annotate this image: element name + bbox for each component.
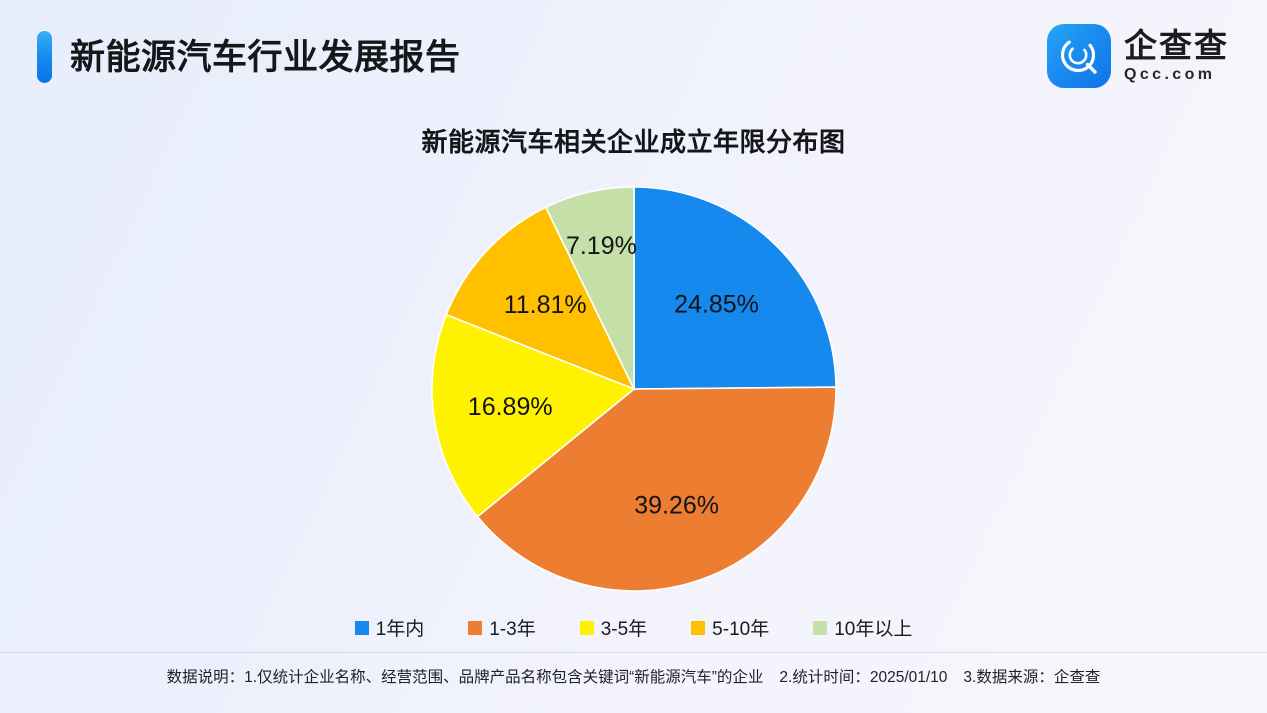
brand-name: 企查查: [1124, 29, 1229, 62]
pie-chart: 24.85%39.26%16.89%11.81%7.19%: [429, 184, 839, 594]
legend-label: 1-3年: [489, 614, 535, 641]
pie-slice[interactable]: [634, 187, 836, 389]
legend-swatch-icon: [355, 621, 369, 635]
chart-legend: 1年内1-3年3-5年5-10年10年以上: [0, 614, 1267, 641]
pie-slice-label: 16.89%: [468, 393, 553, 421]
pie-slice-label: 24.85%: [674, 290, 759, 318]
legend-swatch-icon: [813, 621, 827, 635]
chart-title: 新能源汽车相关企业成立年限分布图: [0, 122, 1267, 159]
brand-domain: Qcc.com: [1124, 67, 1229, 83]
pie-chart-svg: 24.85%39.26%16.89%11.81%7.19%: [429, 184, 839, 594]
page-header: 新能源汽车行业发展报告 企查查 Qcc.com: [0, 0, 1267, 112]
legend-item[interactable]: 1-3年: [468, 614, 535, 641]
legend-swatch-icon: [691, 621, 705, 635]
legend-item[interactable]: 10年以上: [813, 614, 912, 641]
legend-item[interactable]: 5-10年: [691, 614, 769, 641]
vertical-bar-icon: [37, 31, 52, 83]
legend-swatch-icon: [468, 621, 482, 635]
footer-note: 数据说明：1.仅统计企业名称、经营范围、品牌产品名称包含关键词“新能源汽车”的企…: [0, 665, 1267, 687]
pie-slice-label: 7.19%: [566, 232, 637, 260]
legend-item[interactable]: 1年内: [355, 614, 425, 641]
page-title: 新能源汽车行业发展报告: [70, 29, 461, 80]
pie-slice-label: 11.81%: [504, 291, 587, 319]
brand-logo: 企查查 Qcc.com: [1047, 23, 1229, 89]
legend-label: 5-10年: [712, 614, 769, 641]
legend-item[interactable]: 3-5年: [580, 614, 647, 641]
footer-note-2: 2.统计时间：2025/01/10: [779, 669, 947, 686]
legend-label: 10年以上: [834, 614, 912, 641]
qcc-logo-icon: [1047, 24, 1111, 88]
legend-swatch-icon: [580, 621, 594, 635]
footer-note-1: 数据说明：1.仅统计企业名称、经营范围、品牌产品名称包含关键词“新能源汽车”的企…: [167, 669, 764, 686]
pie-slice-label: 39.26%: [634, 491, 719, 519]
legend-label: 3-5年: [601, 614, 647, 641]
footer-divider: [0, 652, 1267, 653]
brand-text: 企查查 Qcc.com: [1124, 29, 1229, 83]
footer-note-3: 3.数据来源：企查查: [963, 669, 1100, 686]
legend-label: 1年内: [376, 614, 425, 641]
